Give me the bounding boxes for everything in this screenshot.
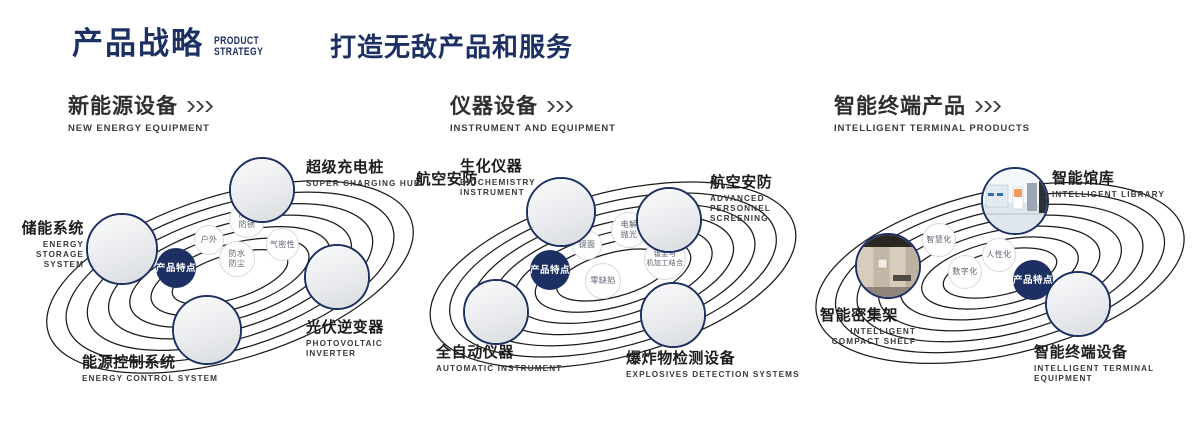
label-biochemistry-instrument: 生化仪器 BIOCHEMISTRY INSTRUMENT [460, 159, 540, 198]
page-title-english: PRODUCT STRATEGY [214, 36, 263, 58]
label-en: INTELLIGENT COMPACT SHELF [820, 327, 916, 347]
section-heading-instrument: 仪器设备 INSTRUMENT AND EQUIPMENT [450, 96, 616, 134]
label-cn: 航空安防 [710, 175, 802, 191]
section-subtitle-intelligent-terminal: INTELLIGENT TERMINAL PRODUCTS [834, 124, 1030, 134]
page-title-english-line2: STRATEGY [214, 47, 263, 58]
label-en: INTELLIGENT TERMINAL EQUIPMENT [1034, 364, 1200, 384]
node-explosives-detection-systems[interactable] [640, 282, 706, 348]
feature-bubble-label: 气密性 [270, 240, 295, 250]
node-advanced-personnel-screening[interactable] [636, 187, 702, 253]
feature-bubble-label: 户外 [201, 235, 218, 245]
label-advanced-personnel-screening: 航空安防 ADVANCED PERSONNEL SCREENING [710, 175, 802, 224]
label-en: INTELLIGENT LIBRARY [1052, 190, 1165, 200]
chevron-right-icon [187, 101, 217, 112]
label-photovoltaic-inverter: 光伏逆变器 PHOTOVOLTAIC INVERTER [306, 320, 430, 359]
intelligent-terminal-equipment-photo [1047, 273, 1109, 335]
label-cn: 智能密集架 [820, 308, 916, 324]
chevron-right-icon [975, 101, 1005, 112]
core-bubble-product-features: 产品特点 [530, 250, 570, 290]
section-title-instrument: 仪器设备 [450, 96, 538, 117]
label-en: PHOTOVOLTAIC INVERTER [306, 339, 430, 359]
feature-bubble-airtight: 气密性 [266, 228, 299, 261]
label-en: ENERGY CONTROL SYSTEM [82, 374, 218, 384]
energy-control-system-photo [174, 297, 240, 363]
section-title-new-energy: 新能源设备 [68, 96, 178, 117]
label-en: EXPLOSIVES DETECTION SYSTEMS [626, 370, 800, 380]
node-energy-storage-system[interactable] [86, 213, 158, 285]
feature-bubble-humanized: 人性化 [982, 238, 1016, 272]
product-strategy-infographic: 产品战略 PRODUCT STRATEGY 打造无敌产品和服务 新能源设备 NE… [0, 0, 1200, 422]
cluster-new-energy: 产品特点 户外 防腐 防锈 防水 防尘 气密性 [30, 155, 430, 400]
label-cn: 能源控制系统 [82, 355, 218, 371]
label-cn: 储能系统 [0, 221, 84, 237]
label-en: AUTOMATIC INSTRUMENT [436, 364, 562, 374]
label-cn: 生化仪器 [460, 159, 540, 175]
label-intelligent-terminal-equipment: 智能终端设备 INTELLIGENT TERMINAL EQUIPMENT [1034, 345, 1200, 384]
cluster-intelligent-terminal: 智慧化 数字化 人性化 产品特点 [800, 155, 1200, 400]
node-photovoltaic-inverter[interactable] [304, 244, 370, 310]
label-intelligent-library: 智能馆库 INTELLIGENT LIBRARY [1052, 171, 1165, 200]
core-bubble-label: 产品特点 [530, 265, 570, 276]
label-automatic-instrument: 全自动仪器 AUTOMATIC INSTRUMENT [436, 345, 562, 374]
node-intelligent-compact-shelf[interactable] [855, 233, 921, 299]
explosives-detection-systems-photo [642, 284, 704, 346]
label-cn: 智能终端设备 [1034, 345, 1200, 361]
label-cn: 智能馆库 [1052, 171, 1165, 187]
feature-bubble-outdoor: 户外 [194, 225, 224, 255]
feature-bubble-label: 防水 防尘 [229, 249, 246, 269]
label-en: ENERGY STORAGE SYSTEM [0, 240, 84, 270]
advanced-personnel-screening-photo [638, 189, 700, 251]
feature-bubble-label: 人性化 [986, 250, 1011, 260]
node-intelligent-library[interactable] [981, 167, 1049, 235]
label-en: ADVANCED PERSONNEL SCREENING [710, 194, 802, 224]
feature-bubble-label: 零缺陷 [590, 276, 615, 286]
label-intelligent-compact-shelf: 智能密集架 INTELLIGENT COMPACT SHELF [820, 308, 916, 347]
automatic-instrument-photo [465, 281, 527, 343]
section-subtitle-instrument: INSTRUMENT AND EQUIPMENT [450, 124, 616, 134]
cluster-instrument: 产品特点 镜面 电解 抛光 零缺陷 钣金与 机加工结合 [418, 155, 818, 400]
node-super-charging-hub[interactable] [229, 157, 295, 223]
section-heading-intelligent-terminal: 智能终端产品 INTELLIGENT TERMINAL PRODUCTS [834, 96, 1030, 134]
intelligent-compact-shelf-photo [857, 235, 919, 297]
feature-bubble-digital: 数字化 [948, 255, 982, 289]
label-energy-storage-system: 储能系统 ENERGY STORAGE SYSTEM [0, 221, 84, 270]
feature-bubble-label: 智慧化 [926, 235, 951, 245]
node-intelligent-terminal-equipment[interactable] [1045, 271, 1111, 337]
intelligent-library-photo [983, 169, 1047, 233]
page-title: 产品战略 [72, 28, 204, 59]
feature-bubble-waterproof: 防水 防尘 [219, 241, 255, 277]
feature-bubble-intelligent: 智慧化 [922, 223, 956, 257]
label-cn: 光伏逆变器 [306, 320, 430, 336]
label-en: BIOCHEMISTRY INSTRUMENT [460, 178, 534, 198]
page-subtitle: 打造无敌产品和服务 [330, 34, 573, 60]
label-cn: 全自动仪器 [436, 345, 562, 361]
label-energy-control-system: 能源控制系统 ENERGY CONTROL SYSTEM [82, 355, 218, 384]
page-header: 产品战略 PRODUCT STRATEGY [72, 28, 277, 59]
label-explosives-detection-systems: 爆炸物检测设备 EXPLOSIVES DETECTION SYSTEMS [626, 351, 800, 380]
core-bubble-product-features: 产品特点 [156, 248, 196, 288]
feature-bubble-label: 数字化 [952, 267, 977, 277]
node-automatic-instrument[interactable] [463, 279, 529, 345]
core-bubble-label: 产品特点 [156, 263, 196, 274]
super-charging-hub-photo [231, 159, 293, 221]
energy-storage-system-photo [88, 215, 156, 283]
chevron-right-icon [547, 101, 577, 112]
feature-bubble-label: 电解 抛光 [621, 220, 638, 240]
section-subtitle-new-energy: NEW ENERGY EQUIPMENT [68, 124, 217, 134]
label-cn: 爆炸物检测设备 [626, 351, 800, 367]
photovoltaic-inverter-photo [306, 246, 368, 308]
feature-bubble-zero-defect: 零缺陷 [585, 263, 621, 299]
section-heading-new-energy: 新能源设备 NEW ENERGY EQUIPMENT [68, 96, 217, 134]
section-title-intelligent-terminal: 智能终端产品 [834, 96, 966, 117]
